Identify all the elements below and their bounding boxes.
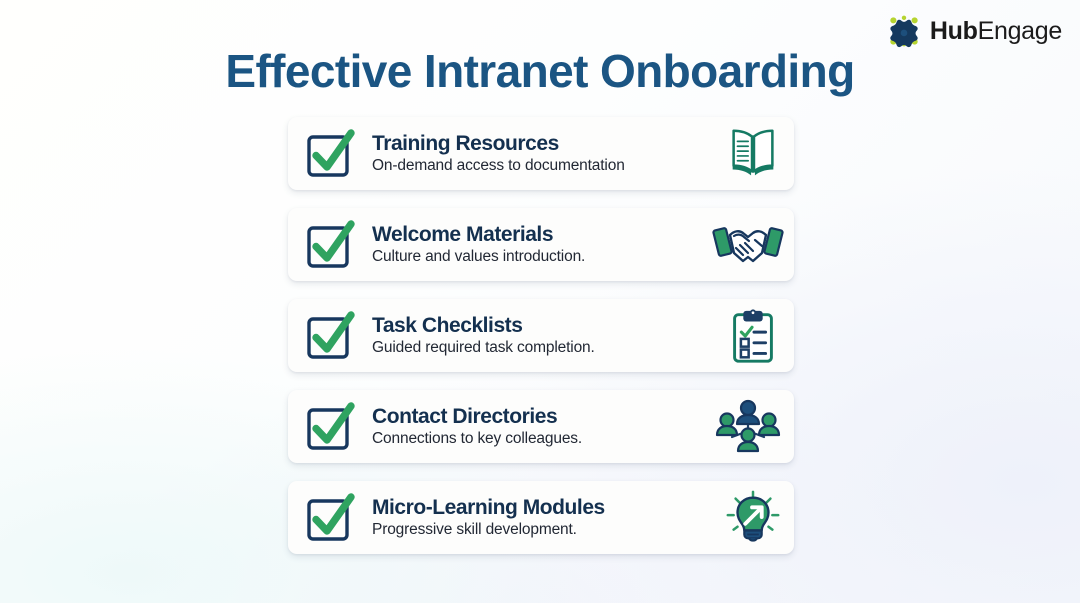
checkbox-checked-icon [304, 491, 358, 545]
card-subtitle: Culture and values introduction. [372, 247, 710, 266]
checkbox-checked-icon [304, 127, 358, 181]
feature-card-task-checklists[interactable]: Task Checklists Guided required task com… [288, 299, 794, 372]
card-title: Micro-Learning Modules [372, 496, 720, 520]
card-subtitle: Connections to key colleagues. [372, 429, 710, 448]
checkbox-checked-icon [304, 218, 358, 272]
feature-card-training-resources[interactable]: Training Resources On-demand access to d… [288, 117, 794, 190]
card-title: Training Resources [372, 132, 720, 156]
card-text-block: Contact Directories Connections to key c… [372, 405, 712, 449]
card-title: Contact Directories [372, 405, 710, 429]
hubengage-star-icon [887, 14, 921, 48]
clipboard-checklist-icon [722, 306, 784, 366]
open-book-icon [722, 124, 784, 184]
checkbox-checked-icon [304, 309, 358, 363]
card-text-block: Welcome Materials Culture and values int… [372, 223, 712, 267]
people-network-icon [712, 397, 784, 457]
feature-card-list: Training Resources On-demand access to d… [288, 117, 794, 554]
brand-name-engage: Engage [978, 17, 1062, 45]
brand-logo: HubEngage [887, 14, 1062, 48]
brand-name: HubEngage [930, 17, 1062, 46]
brand-name-hub: Hub [930, 17, 978, 45]
card-text-block: Training Resources On-demand access to d… [372, 132, 722, 176]
card-text-block: Micro-Learning Modules Progressive skill… [372, 496, 722, 540]
page-title: Effective Intranet Onboarding [0, 44, 1080, 98]
feature-card-contact-directories[interactable]: Contact Directories Connections to key c… [288, 390, 794, 463]
card-title: Task Checklists [372, 314, 720, 338]
handshake-icon [712, 215, 784, 275]
card-text-block: Task Checklists Guided required task com… [372, 314, 722, 358]
card-title: Welcome Materials [372, 223, 710, 247]
feature-card-welcome-materials[interactable]: Welcome Materials Culture and values int… [288, 208, 794, 281]
card-subtitle: Progressive skill development. [372, 520, 720, 539]
lightbulb-arrow-icon [722, 488, 784, 548]
card-subtitle: Guided required task completion. [372, 338, 720, 357]
slide-canvas: HubEngage Effective Intranet Onboarding … [0, 0, 1080, 603]
card-subtitle: On-demand access to documentation [372, 156, 720, 175]
feature-card-micro-learning-modules[interactable]: Micro-Learning Modules Progressive skill… [288, 481, 794, 554]
checkbox-checked-icon [304, 400, 358, 454]
